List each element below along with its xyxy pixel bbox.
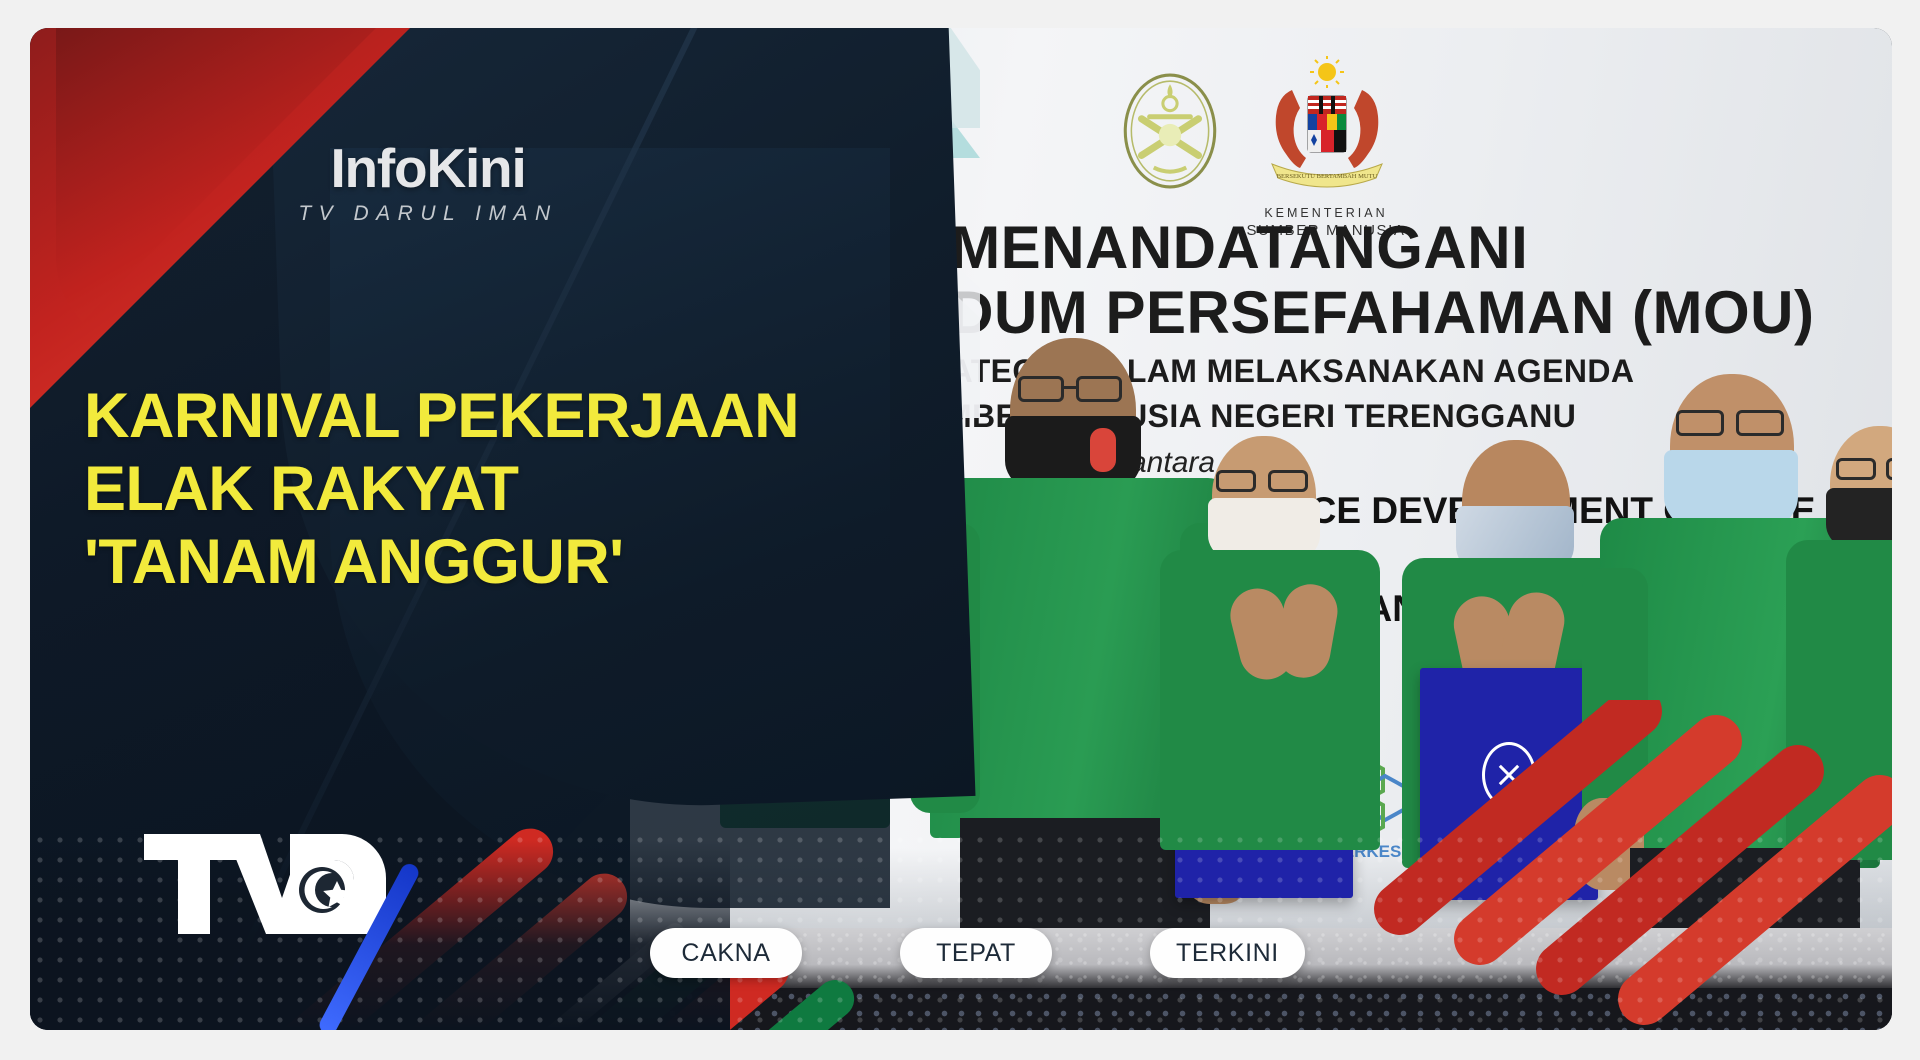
brand-subtitle: TV DARUL IMAN bbox=[278, 202, 578, 226]
banner-between-label: antara bbox=[1130, 446, 1215, 480]
footer-tag-terkini[interactable]: TERKINI bbox=[1150, 928, 1305, 978]
news-thumbnail-card: BERSEKUTU BERTAMBAH MUTU KEMENTERIAN SUM… bbox=[30, 28, 1892, 1030]
headline-line-1: KARNIVAL PEKERJAAN bbox=[84, 380, 784, 453]
thumbnail-frame: BERSEKUTU BERTAMBAH MUTU KEMENTERIAN SUM… bbox=[0, 0, 1920, 1060]
terengganu-crest-icon bbox=[1118, 70, 1222, 192]
footer-tag-cakna[interactable]: CAKNA bbox=[650, 928, 802, 978]
svg-text:BERSEKUTU BERTAMBAH MUTU: BERSEKUTU BERTAMBAH MUTU bbox=[1277, 173, 1378, 180]
red-bar-decor-right bbox=[1372, 700, 1892, 1030]
brand-name: InfoKini bbox=[278, 136, 578, 200]
infokini-logo: InfoKini TV DARUL IMAN bbox=[278, 136, 578, 226]
footer-tag-row: CAKNA TEPAT TERKINI bbox=[650, 928, 1305, 978]
headline-line-2: ELAK RAKYAT bbox=[84, 453, 784, 526]
footer-tag-tepat[interactable]: TEPAT bbox=[900, 928, 1052, 978]
tvd-network-logo bbox=[140, 828, 390, 940]
headline: KARNIVAL PEKERJAAN ELAK RAKYAT 'TANAM AN… bbox=[84, 380, 784, 599]
headline-line-3: 'TANAM ANGGUR' bbox=[84, 526, 784, 599]
malaysia-coat-of-arms-icon: BERSEKUTU BERTAMBAH MUTU bbox=[1252, 56, 1402, 206]
